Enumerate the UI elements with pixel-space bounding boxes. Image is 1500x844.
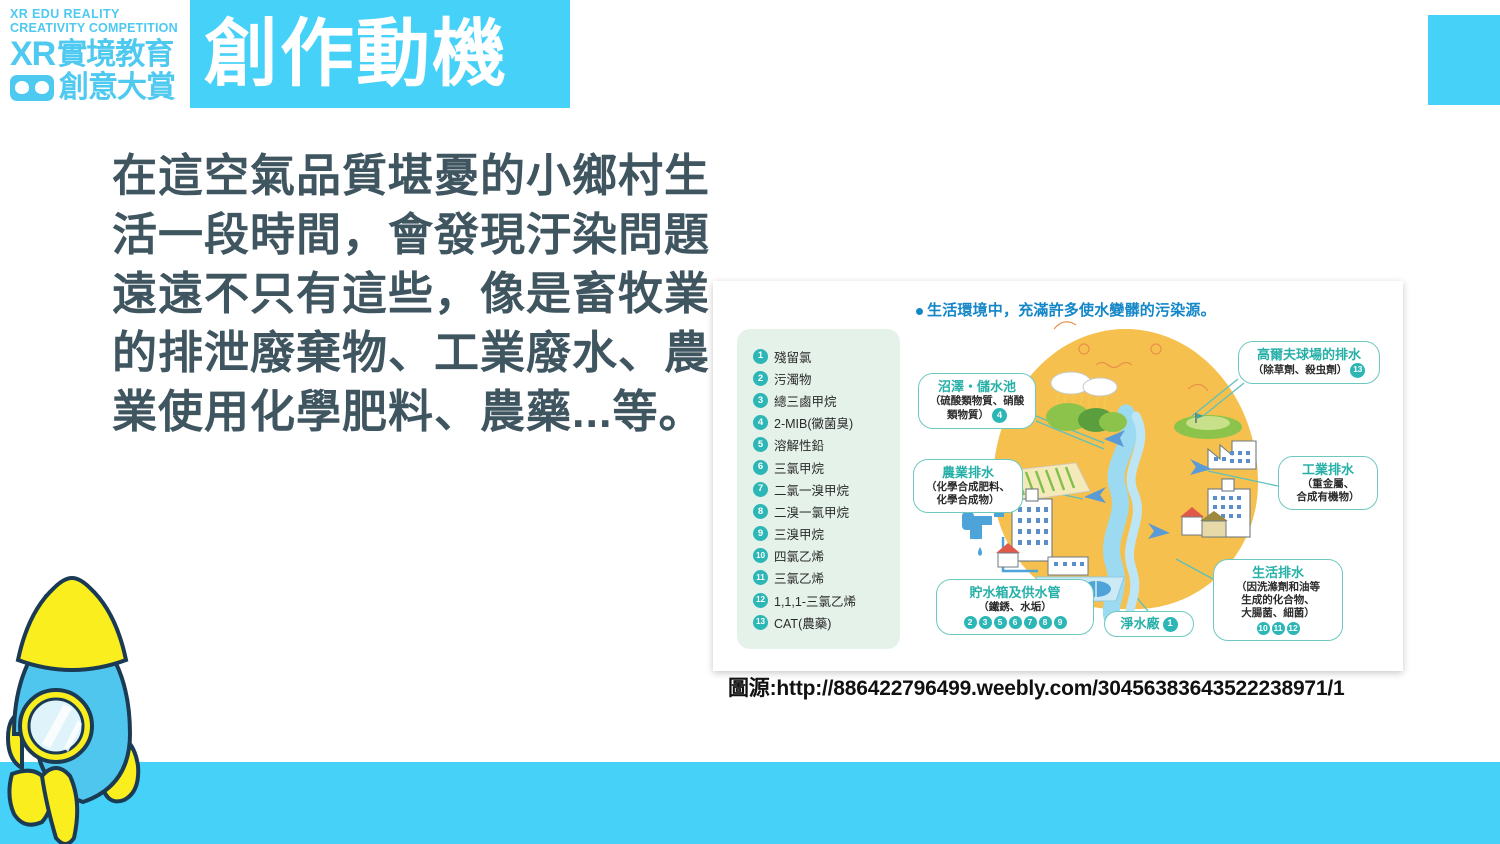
callout-badge: 8 [1039, 616, 1052, 629]
callout-subtitle-text: （除草劑、殺虫劑） [1253, 364, 1348, 377]
brand-tagline-line2: CREATIVITY COMPETITION [10, 21, 190, 35]
slide-title-bar: 創作動機 [190, 0, 570, 108]
callout-title: 高爾夫球場的排水 [1247, 347, 1371, 363]
callout-subtitle-line1: （鐵銹、水垢） [945, 601, 1085, 614]
callout-badge-row: 10 11 12 [1222, 622, 1334, 635]
list-item: 5溶解性鉛 [753, 434, 900, 456]
callout-title: 農業排水 [922, 465, 1014, 481]
callout-badge: 1 [1163, 617, 1178, 632]
list-item: 10四氯乙烯 [753, 545, 900, 567]
callout-subtitle-line2: 類物質）4 [927, 408, 1027, 423]
legend-badge: 9 [753, 526, 768, 541]
list-item: 13CAT(農藥) [753, 611, 900, 633]
brand-tagline-line1: XR EDU REALITY [10, 8, 190, 21]
callout-badge: 13 [1350, 363, 1365, 378]
callout-swamp: 沼澤・儲水池 （硫酸類物質、硝酸 類物質）4 [918, 373, 1036, 429]
legend-label: CAT(農藥) [774, 613, 831, 632]
callout-badge: 4 [992, 408, 1007, 423]
legend-label: 三溴甲烷 [774, 524, 824, 543]
legend-label: 四氯乙烯 [774, 546, 824, 565]
callout-domestic-wastewater: 生活排水 （因洗滌劑和油等 生成的化合物、 大腸菌、細菌） 10 11 12 [1213, 559, 1343, 641]
callout-subtitle-line2: 合成有機物） [1287, 491, 1369, 504]
callout-badge: 11 [1272, 622, 1285, 635]
slide: XR EDU REALITY CREATIVITY COMPETITION XR… [0, 0, 1500, 844]
list-item: 1殘留氯 [753, 345, 900, 367]
legend-badge: 6 [753, 460, 768, 475]
callout-badge: 12 [1287, 622, 1300, 635]
callout-badge: 2 [964, 616, 977, 629]
bullet-dot-icon [916, 308, 923, 315]
callout-industrial-drainage: 工業排水 （重金屬、 合成有機物） [1278, 456, 1378, 510]
callout-agricultural-drainage: 農業排水 （化學合成肥料、 化學合成物） [913, 459, 1023, 513]
callout-badge: 9 [1054, 616, 1067, 629]
rocket-icon [0, 568, 170, 844]
callout-subtitle-line1: （重金屬、 [1287, 478, 1369, 491]
legend-label: 總三鹵甲烷 [774, 391, 837, 410]
list-item: 2污濁物 [753, 367, 900, 389]
callout-golf-course: 高爾夫球場的排水 （除草劑、殺虫劑）13 [1238, 341, 1380, 384]
vr-goggles-icon [10, 75, 54, 101]
callout-subtitle-line2: 化學合成物） [922, 494, 1014, 507]
list-item: 3總三鹵甲烷 [753, 389, 900, 411]
legend-badge: 7 [753, 482, 768, 497]
callout-badge-row: 2 3 5 6 7 8 9 [945, 616, 1085, 629]
golf-course-icon [1174, 413, 1242, 439]
legend-badge: 1 [753, 349, 768, 364]
callout-subtitle-line3: 大腸菌、細菌） [1222, 607, 1334, 620]
legend-badge: 8 [753, 504, 768, 519]
top-right-accent-square [1428, 15, 1500, 105]
callout-title: 貯水箱及供水管 [945, 585, 1085, 601]
list-item: 6三氯甲烷 [753, 456, 900, 478]
legend-badge: 3 [753, 393, 768, 408]
callout-title: 淨水廠1 [1113, 616, 1185, 632]
brand-name-cn-line2: 創意大賞 [59, 72, 175, 104]
legend-label: 殘留氯 [774, 347, 812, 366]
infographic-title-text: 生活環境中，充滿許多使水變髒的污染源。 [927, 302, 1216, 319]
list-item: 7二氯一溴甲烷 [753, 478, 900, 500]
callout-subtitle-line1: （化學合成肥料、 [922, 481, 1014, 494]
callout-title: 沼澤・儲水池 [927, 379, 1027, 395]
callout-subtitle-line2: 生成的化合物、 [1222, 594, 1334, 607]
infographic-title: 生活環境中，充滿許多使水變髒的污染源。 [916, 299, 1216, 320]
callout-subtitle-line1: （硫酸類物質、硝酸 [927, 395, 1027, 408]
legend-label: 二溴一氯甲烷 [774, 502, 849, 521]
list-item: 8二溴一氯甲烷 [753, 500, 900, 522]
callout-badge: 7 [1024, 616, 1037, 629]
callout-badge: 6 [1009, 616, 1022, 629]
infographic-card: 生活環境中，充滿許多使水變髒的污染源。 1殘留氯 2污濁物 3總三鹵甲烷 42-… [713, 281, 1403, 671]
legend-label: 1,1,1-三氯乙烯 [774, 591, 856, 610]
legend-label: 三氯乙烯 [774, 568, 824, 587]
legend-badge: 2 [753, 371, 768, 386]
legend-label: 2-MIB(黴菌臭) [774, 413, 853, 432]
callout-subtitle-text: 類物質） [947, 409, 989, 422]
list-item: 11三氯乙烯 [753, 567, 900, 589]
callout-badge: 10 [1257, 622, 1270, 635]
body-paragraph: 在這空氣品質堪憂的小鄉村生活一段時間，會發現汙染問題遠遠不只有這些，像是畜牧業的… [112, 146, 712, 441]
legend-label: 溶解性鉛 [774, 435, 824, 454]
callout-water-tank-pipes: 貯水箱及供水管 （鐵銹、水垢） 2 3 5 6 7 8 9 [936, 579, 1094, 635]
legend-label: 二氯一溴甲烷 [774, 480, 849, 499]
list-item: 42-MIB(黴菌臭) [753, 412, 900, 434]
callout-title: 生活排水 [1222, 565, 1334, 581]
list-item: 121,1,1-三氯乙烯 [753, 589, 900, 611]
legend-badge: 5 [753, 437, 768, 452]
callout-badge: 5 [994, 616, 1007, 629]
callout-title-text: 淨水廠 [1120, 616, 1159, 632]
callout-subtitle-line1: （除草劑、殺虫劑）13 [1247, 363, 1371, 378]
callout-subtitle-line1: （因洗滌劑和油等 [1222, 581, 1334, 594]
legend-badge: 13 [753, 615, 768, 630]
bottom-accent-band [0, 762, 1500, 844]
callout-title: 工業排水 [1287, 462, 1369, 478]
hills-icon [1046, 403, 1127, 432]
legend-badge: 4 [753, 415, 768, 430]
list-item: 9三溴甲烷 [753, 523, 900, 545]
brand-logo: XR EDU REALITY CREATIVITY COMPETITION XR… [10, 8, 190, 108]
factory-icon [1208, 441, 1256, 469]
legend-badge: 11 [753, 570, 768, 585]
callout-badge: 3 [979, 616, 992, 629]
legend-label: 三氯甲烷 [774, 458, 824, 477]
pollutant-legend: 1殘留氯 2污濁物 3總三鹵甲烷 42-MIB(黴菌臭) 5溶解性鉛 6三氯甲烷… [737, 329, 900, 649]
legend-badge: 10 [753, 548, 768, 563]
pollution-illustration: 沼澤・儲水池 （硫酸類物質、硝酸 類物質）4 高爾夫球場的排水 （除草劑、殺虫劑… [908, 321, 1388, 666]
page-title: 創作動機 [204, 14, 508, 94]
brand-name-en: XR [10, 37, 55, 71]
brand-name-cn-line1: 實境教育 [57, 39, 173, 71]
legend-badge: 12 [753, 593, 768, 608]
legend-label: 污濁物 [774, 369, 812, 388]
callout-water-purification-plant: 淨水廠1 [1104, 611, 1194, 637]
source-caption: 圖源:http://886422796499.weebly.com/304563… [728, 672, 1345, 702]
